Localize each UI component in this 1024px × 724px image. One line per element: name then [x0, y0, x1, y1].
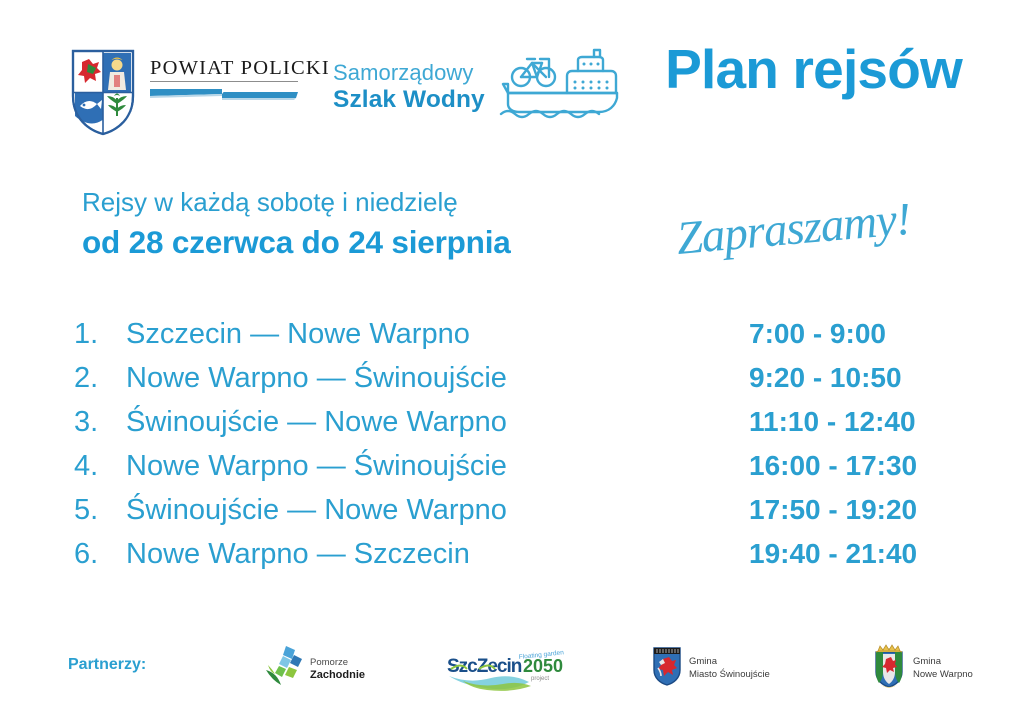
- subtitle-frequency: Rejsy w każdą sobotę i niedzielę: [82, 186, 511, 219]
- szczecin-floating-garden-2050-logo-icon: SzcZecin 2050 Floating garden project: [445, 650, 575, 699]
- route-number: 4.: [74, 450, 126, 483]
- table-row: 3. Świnoujście — Nowe Warpno 11:10 - 12:…: [74, 406, 954, 450]
- partner-name-line1: Gmina: [913, 656, 973, 669]
- partner-gmina-nowe-warpno: Gmina Nowe Warpno: [872, 644, 973, 693]
- route-number: 2.: [74, 362, 126, 395]
- powiat-ribbon-graphic: [150, 87, 298, 101]
- route-number: 5.: [74, 494, 126, 527]
- route-name: Szczecin — Nowe Warpno: [126, 318, 749, 351]
- partner-caption: Gmina Miasto Świnoujście: [689, 656, 770, 682]
- table-row: 1. Szczecin — Nowe Warpno 7:00 - 9:00: [74, 318, 954, 362]
- table-row: 5. Świnoujście — Nowe Warpno 17:50 - 19:…: [74, 494, 954, 538]
- partner-gmina-swinoujscie: Gmina Miasto Świnoujście: [652, 646, 770, 691]
- powiat-policki-wordmark: POWIAT POLICKI: [150, 48, 330, 101]
- zapraszamy-script-text: Zapraszamy!: [672, 204, 972, 274]
- route-name: Nowe Warpno — Szczecin: [126, 538, 749, 571]
- swinoujscie-coat-of-arms-icon: [652, 646, 682, 691]
- route-name: Świnoujście — Nowe Warpno: [126, 494, 749, 527]
- szlak-wodny-line1: Samorządowy: [333, 61, 485, 86]
- partners-label: Partnerzy:: [68, 656, 146, 674]
- powiat-policki-logo: POWIAT POLICKI: [70, 48, 330, 136]
- route-name: Świnoujście — Nowe Warpno: [126, 406, 749, 439]
- partner-name-line1: Gmina: [689, 656, 770, 669]
- table-row: 4. Nowe Warpno — Świnoujście 16:00 - 17:…: [74, 450, 954, 494]
- route-number: 3.: [74, 406, 126, 439]
- route-time: 19:40 - 21:40: [749, 538, 954, 570]
- powiat-divider-line: [150, 81, 298, 82]
- pomorze-zachodnie-wordmark: Pomorze Zachodnie: [310, 658, 365, 681]
- route-time: 9:20 - 10:50: [749, 362, 954, 394]
- partners-bar: Partnerzy: Pomorze Zachodnie SzcZecin 20…: [0, 636, 1024, 714]
- subtitle-block: Rejsy w każdą sobotę i niedzielę od 28 c…: [82, 186, 511, 262]
- partner-name-line2: Nowe Warpno: [913, 669, 973, 682]
- route-number: 6.: [74, 538, 126, 571]
- pomorze-zachodnie-logo-icon: [262, 644, 306, 695]
- page-title: Plan rejsów: [665, 42, 962, 97]
- table-row: 2. Nowe Warpno — Świnoujście 9:20 - 10:5…: [74, 362, 954, 406]
- partner-name-line1: Pomorze: [310, 658, 365, 668]
- partner-name-line2: Zachodnie: [310, 669, 365, 681]
- partner-name-line2: Miasto Świnoujście: [689, 669, 770, 682]
- subtitle-date-range: od 28 czerwca do 24 sierpnia: [82, 222, 511, 263]
- boat-bicycle-icon: [499, 48, 621, 126]
- partner-szczecin-floating-garden: SzcZecin 2050 Floating garden project: [445, 650, 575, 699]
- svg-text:Zapraszamy!: Zapraszamy!: [674, 204, 912, 265]
- partner-caption: Gmina Nowe Warpno: [913, 656, 973, 682]
- route-time: 16:00 - 17:30: [749, 450, 954, 482]
- route-time: 7:00 - 9:00: [749, 318, 954, 350]
- route-time: 11:10 - 12:40: [749, 406, 954, 438]
- table-row: 6. Nowe Warpno — Szczecin 19:40 - 21:40: [74, 538, 954, 582]
- powiat-policki-crest-icon: [70, 48, 136, 136]
- partner-pomorze-zachodnie: Pomorze Zachodnie: [262, 644, 365, 695]
- route-time: 17:50 - 19:20: [749, 494, 954, 526]
- route-name: Nowe Warpno — Świnoujście: [126, 450, 749, 483]
- route-name: Nowe Warpno — Świnoujście: [126, 362, 749, 395]
- szlak-wodny-wordmark: Samorządowy Szlak Wodny: [333, 61, 485, 113]
- cruise-schedule-list: 1. Szczecin — Nowe Warpno 7:00 - 9:00 2.…: [74, 318, 954, 582]
- svg-text:project: project: [531, 676, 549, 682]
- szlak-wodny-logo: Samorządowy Szlak Wodny: [333, 48, 621, 126]
- powiat-policki-name: POWIAT POLICKI: [150, 58, 330, 79]
- szlak-wodny-line2: Szlak Wodny: [333, 86, 485, 113]
- route-number: 1.: [74, 318, 126, 351]
- page-header: POWIAT POLICKI Samorządowy Szlak Wodny: [0, 0, 1024, 150]
- nowe-warpno-coat-of-arms-icon: [872, 644, 906, 693]
